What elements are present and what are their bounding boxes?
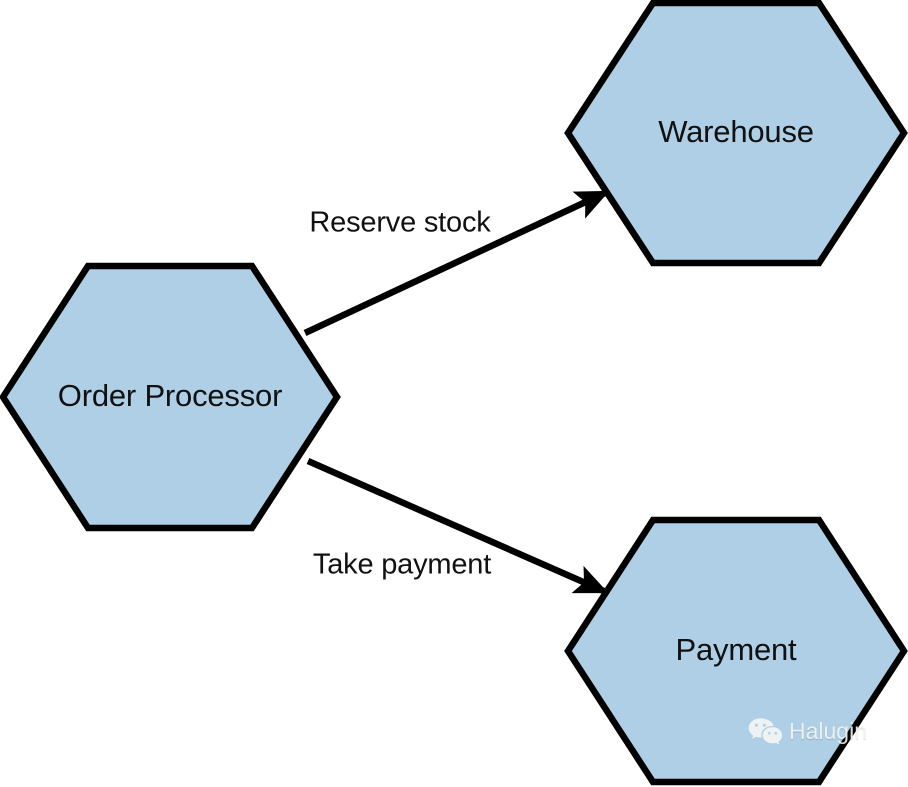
node-order-processor[interactable]: Order Processor <box>3 266 337 528</box>
diagram-surface: Order Processor Warehouse Payment Reserv… <box>0 0 908 787</box>
node-warehouse[interactable]: Warehouse <box>568 3 904 263</box>
edge-label-reserve-stock: Reserve stock <box>309 207 491 239</box>
node-label-warehouse: Warehouse <box>658 114 814 149</box>
node-label-order-processor: Order Processor <box>58 378 282 413</box>
edge-label-take-payment: Take payment <box>313 549 491 581</box>
node-label-payment: Payment <box>676 632 798 667</box>
diagram-canvas: Order Processor Warehouse Payment Reserv… <box>0 0 908 787</box>
node-payment[interactable]: Payment <box>568 520 904 782</box>
